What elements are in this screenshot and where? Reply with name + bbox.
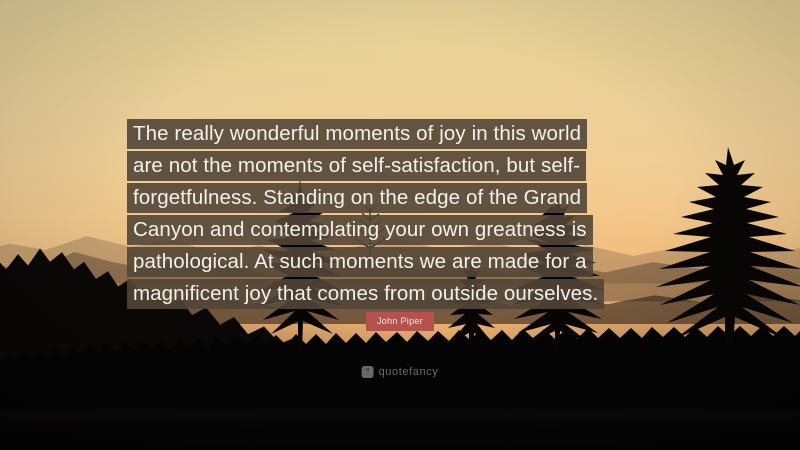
quote-line: forgetfulness. Standing on the edge of t… [127, 183, 587, 213]
foreground-ground [0, 410, 800, 450]
quote-line: pathological. At such moments we are mad… [127, 247, 593, 277]
quote-line: magnificent joy that comes from outside … [127, 279, 604, 309]
author-badge: John Piper [366, 312, 434, 331]
quote-poster: The really wonderful moments of joy in t… [0, 0, 800, 450]
quote-line: Canyon and contemplating your own greatn… [127, 215, 593, 245]
watermark-label: quotefancy [379, 366, 439, 378]
quote-line: The really wonderful moments of joy in t… [127, 119, 587, 149]
quote-line: are not the moments of self-satisfaction… [127, 151, 586, 181]
quote-text-block: The really wonderful moments of joy in t… [127, 119, 687, 309]
quote-mark-icon: “ [362, 366, 374, 378]
quotefancy-watermark: “ quotefancy [362, 366, 439, 378]
